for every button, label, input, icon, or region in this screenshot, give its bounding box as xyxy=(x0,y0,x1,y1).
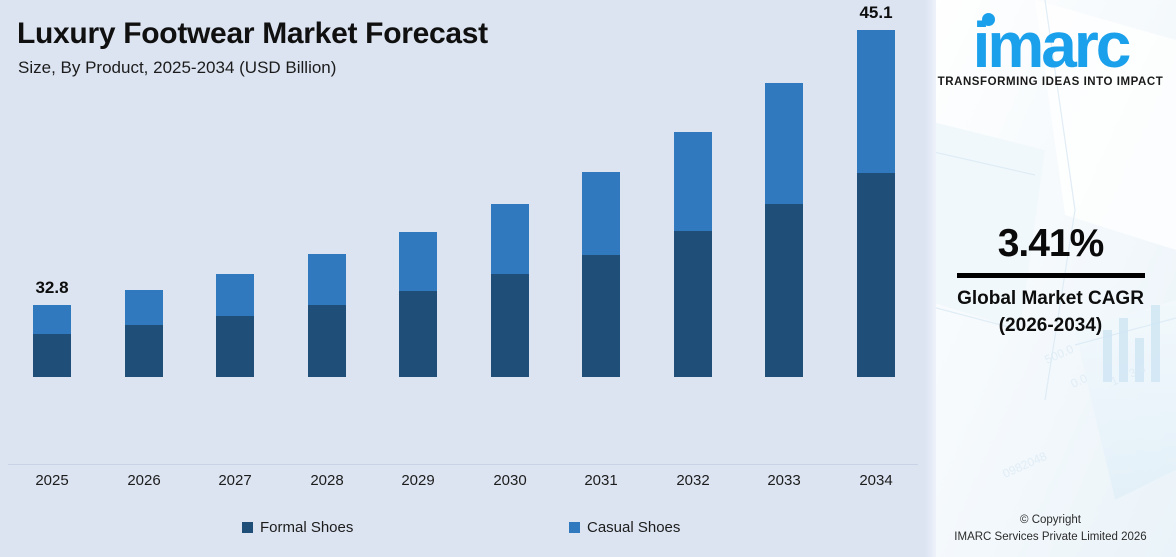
logo-wordmark-text: imarc xyxy=(973,9,1129,81)
bar-segment-casual-2033 xyxy=(765,83,803,204)
copyright-notice: © Copyright IMARC Services Private Limit… xyxy=(925,512,1176,547)
x-axis-label-2031: 2031 xyxy=(582,472,620,489)
bar-2029 xyxy=(399,232,437,377)
bar-segment-formal-2031 xyxy=(582,255,620,377)
x-axis-label-2027: 2027 xyxy=(216,472,254,489)
x-axis-label-2032: 2032 xyxy=(674,472,712,489)
bar-segment-formal-2033 xyxy=(765,204,803,377)
legend-label: Formal Shoes xyxy=(260,519,353,536)
bar-segment-casual-2025 xyxy=(33,305,71,334)
x-axis-line xyxy=(8,464,918,465)
x-axis-label-2025: 2025 xyxy=(33,472,71,489)
bar-2027 xyxy=(216,274,254,377)
copyright-line-1: © Copyright xyxy=(925,512,1176,529)
bar-value-label-2034: 45.1 xyxy=(859,3,892,23)
bar-segment-formal-2030 xyxy=(491,274,529,377)
legend-item-formal-shoes[interactable]: Formal Shoes xyxy=(242,519,353,536)
x-axis-label-2029: 2029 xyxy=(399,472,437,489)
chart-panel: Luxury Footwear Market Forecast Size, By… xyxy=(0,0,925,557)
bar-segment-formal-2028 xyxy=(308,305,346,377)
bar-2026 xyxy=(125,290,163,377)
bar-2025: 32.8 xyxy=(33,305,71,377)
imarc-logo: imarc TRANSFORMING IDEAS INTO IMPACT xyxy=(925,16,1176,88)
bar-2033 xyxy=(765,83,803,377)
cagr-value: 3.41% xyxy=(925,222,1176,266)
chart-legend: Formal ShoesCasual Shoes xyxy=(0,519,925,545)
bar-2030 xyxy=(491,204,529,377)
legend-swatch-icon xyxy=(569,522,580,533)
bar-segment-casual-2029 xyxy=(399,232,437,291)
legend-label: Casual Shoes xyxy=(587,519,680,536)
bar-segment-formal-2034 xyxy=(857,173,895,377)
bar-segment-casual-2027 xyxy=(216,274,254,316)
plot-area: 32.8202520262027202820292030203120322033… xyxy=(0,0,925,470)
bar-segment-casual-2034 xyxy=(857,30,895,173)
brand-panel: 500.0 0.0 1 2 3 4 0982048 imarc TRANSFOR… xyxy=(925,0,1176,557)
logo-wordmark: imarc xyxy=(973,16,1129,75)
x-axis-label-2034: 2034 xyxy=(857,472,895,489)
bar-segment-casual-2032 xyxy=(674,132,712,231)
bar-segment-formal-2027 xyxy=(216,316,254,377)
chart-infographic: Luxury Footwear Market Forecast Size, By… xyxy=(0,0,1176,557)
bar-2031 xyxy=(582,172,620,377)
bar-segment-formal-2026 xyxy=(125,325,163,377)
bar-segment-casual-2031 xyxy=(582,172,620,255)
imarc-dot-icon xyxy=(982,13,995,26)
cagr-callout: 3.41% Global Market CAGR (2026-2034) xyxy=(925,222,1176,340)
bar-segment-formal-2032 xyxy=(674,231,712,377)
bar-segment-casual-2028 xyxy=(308,254,346,305)
cagr-caption-period: (2026-2034) xyxy=(925,313,1176,340)
legend-item-casual-shoes[interactable]: Casual Shoes xyxy=(569,519,680,536)
bar-value-label-2025: 32.8 xyxy=(35,278,68,298)
bar-segment-casual-2030 xyxy=(491,204,529,274)
x-axis-label-2033: 2033 xyxy=(765,472,803,489)
bar-segment-formal-2029 xyxy=(399,291,437,377)
bar-2034: 45.1 xyxy=(857,30,895,377)
x-axis-label-2028: 2028 xyxy=(308,472,346,489)
cagr-caption-primary: Global Market CAGR xyxy=(925,286,1176,313)
bar-segment-casual-2026 xyxy=(125,290,163,325)
cagr-divider xyxy=(957,273,1145,278)
bar-2032 xyxy=(674,132,712,377)
x-axis-label-2026: 2026 xyxy=(125,472,163,489)
bar-2028 xyxy=(308,254,346,377)
legend-swatch-icon xyxy=(242,522,253,533)
x-axis-label-2030: 2030 xyxy=(491,472,529,489)
bar-segment-formal-2025 xyxy=(33,334,71,377)
copyright-line-2: IMARC Services Private Limited 2026 xyxy=(925,529,1176,546)
